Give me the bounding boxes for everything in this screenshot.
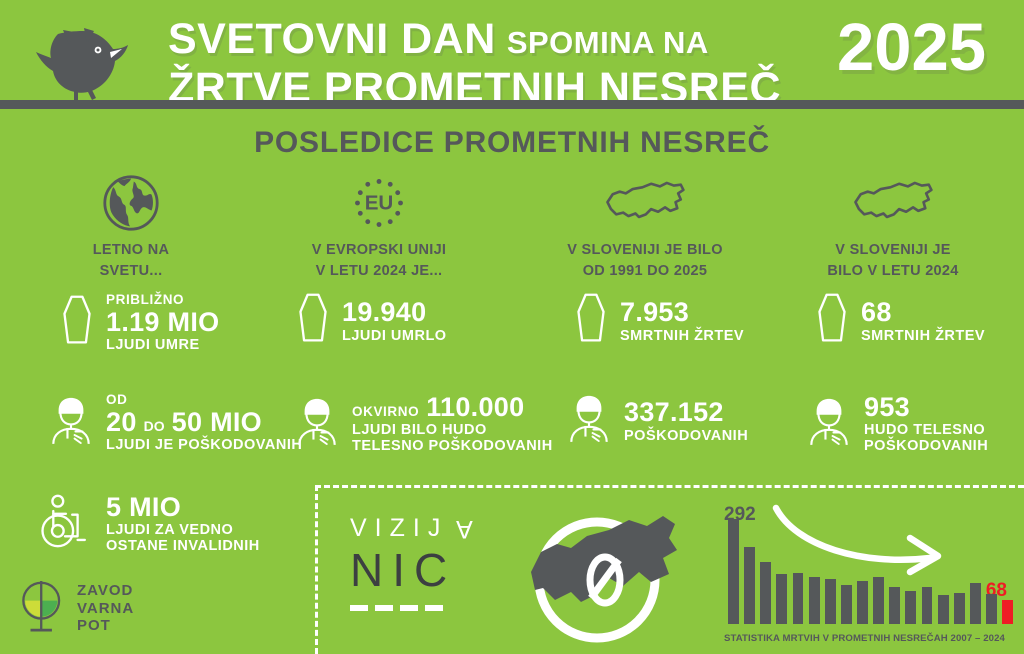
stat-pre: PRIBLIŽNO [106, 292, 219, 307]
column-header-slovenia-1991: V SLOVENIJI JE BILO OD 1991 DO 2025 [520, 172, 770, 281]
stat-value-b: 50 MIO [172, 407, 262, 437]
chart-bar [857, 581, 868, 624]
header-divider [0, 100, 1024, 109]
chart-bar [873, 577, 884, 624]
chart-caption: STATISTIKA MRTVIH V PROMETNIH NESREČAH 2… [724, 633, 1016, 644]
column-label-2: V SLOVENIJI JE BILO OD 1991 DO 2025 [520, 240, 770, 281]
deaths-row: PRIBLIŽNO 1.19 MIO LJUDI UMRE 19.940 LJU… [0, 292, 1024, 358]
chart-bar [1002, 600, 1013, 624]
chart-bar [841, 585, 852, 624]
injured-person-icon [566, 392, 612, 449]
slovenia-map-icon [768, 172, 1018, 234]
column-label-0: LETNO NA SVETU... [6, 240, 256, 281]
logo-mark-icon [18, 578, 68, 639]
column-header-eu: EU V EVROPSKI UNIJI V LETU 2024 JE... [254, 172, 504, 281]
stat-post: LJUDI JE POŠKODOVANIH [106, 437, 302, 453]
column-headers: LETNO NA SVETU... EU V EVROPSKI UNIJI V … [0, 172, 1024, 280]
stat-value: 5 MIO [106, 492, 260, 522]
year-label: 2025 [837, 14, 986, 81]
vizija-word-bottom: NIC [350, 547, 510, 593]
stat-injured-world: OD 20 DO 50 MIO LJUDI JE POŠKODOVANIH [48, 392, 302, 454]
coffin-icon [296, 292, 330, 349]
infographic-page: SVETOVNI DAN SPOMINA NA ŽRTVE PROMETNIH … [0, 0, 1024, 654]
bird-icon [22, 18, 152, 110]
coffin-icon [815, 292, 849, 349]
chart-bar [760, 562, 771, 624]
stat-post: POŠKODOVANIH [624, 428, 748, 444]
stat-value-a: 337.152 [624, 397, 748, 427]
stat-post: LJUDI BILO HUDO TELESNO POŠKODOVANIH [352, 422, 553, 454]
stat-post: SMRTNIH ŽRTEV [620, 328, 744, 344]
stat-pre: OKVIRNO [352, 404, 419, 419]
header: SVETOVNI DAN SPOMINA NA ŽRTVE PROMETNIH … [0, 0, 1024, 112]
vizija-flipped-a: A [448, 516, 473, 541]
chart-bar [728, 519, 739, 624]
chart-bar [922, 587, 933, 624]
chart-bar [825, 579, 836, 624]
chart-bar [986, 594, 997, 624]
globe-icon [6, 172, 256, 234]
stat-value-a: 20 [106, 407, 137, 437]
stat-deaths-world: PRIBLIŽNO 1.19 MIO LJUDI UMRE [60, 292, 219, 354]
chart-bar [905, 591, 916, 624]
stat-injured-slovenia-2024: 953 HUDO TELESNO POŠKODOVANIH [806, 392, 988, 455]
injured-person-icon [294, 395, 340, 452]
wheelchair-icon [38, 493, 92, 554]
chart-bar [809, 577, 820, 624]
chart-bar [889, 587, 900, 624]
chart-bar [793, 573, 804, 624]
injured-person-icon [48, 394, 94, 451]
deaths-bar-chart: 292 68 STATISTIKA MRTVIH V PROMETNIH NES… [718, 496, 1018, 651]
eu-stars-icon: EU [254, 172, 504, 234]
stat-post: SMRTNIH ŽRTEV [861, 328, 985, 344]
zavod-varna-pot-logo: ZAVOD VARNA POT [18, 578, 134, 639]
chart-bar [970, 583, 981, 624]
stat-post: LJUDI UMRE [106, 337, 219, 353]
stat-injured-slovenia-total: 337.152 POŠKODOVANIH [566, 392, 748, 449]
stat-deaths-slovenia-total: 7.953 SMRTNIH ŽRTEV [574, 292, 744, 349]
title-line1-big: SVETOVNI DAN [168, 15, 496, 63]
chart-bars [728, 516, 1013, 624]
stat-deaths-eu: 19.940 LJUDI UMRLO [296, 292, 447, 349]
stat-pre: OD [106, 392, 302, 407]
column-header-world: LETNO NA SVETU... [6, 172, 256, 281]
vizija-dashes [350, 605, 510, 611]
injured-row: OD 20 DO 50 MIO LJUDI JE POŠKODOVANIH [0, 392, 1024, 464]
injured-person-icon [806, 395, 852, 452]
stat-value: 7.953 [620, 297, 744, 327]
coffin-icon [60, 294, 94, 351]
stat-value-a: 953 [864, 392, 988, 422]
stat-value: 19.940 [342, 297, 447, 327]
svg-text:EU: EU [365, 192, 394, 215]
vizija-word-top: VIZIJ [350, 516, 448, 541]
stat-deaths-slovenia-2024: 68 SMRTNIH ŽRTEV [815, 292, 985, 349]
chart-bar [938, 595, 949, 624]
stat-permanently-disabled: 5 MIO LJUDI ZA VEDNO OSTANE INVALIDNIH [38, 492, 260, 555]
page-subtitle: POSLEDICE PROMETNIH NESREČ [0, 126, 1024, 160]
stat-post: LJUDI ZA VEDNO OSTANE INVALIDNIH [106, 522, 260, 554]
chart-bar [776, 574, 787, 624]
stat-post: HUDO TELESNO POŠKODOVANIH [864, 422, 988, 454]
vizija-wordmark: VIZIJA NIC [350, 516, 510, 611]
slovenia-zero-target-icon [513, 502, 693, 652]
chart-bar [744, 547, 755, 624]
stat-post: LJUDI UMRLO [342, 328, 447, 344]
slovenia-map-icon [520, 172, 770, 234]
column-label-3: V SLOVENIJI JE BILO V LETU 2024 [768, 240, 1018, 281]
column-header-slovenia-2024: V SLOVENIJI JE BILO V LETU 2024 [768, 172, 1018, 281]
title-line1-small: SPOMINA NA [507, 25, 709, 60]
coffin-icon [574, 292, 608, 349]
stat-value-a: 110.000 [426, 392, 524, 422]
stat-value: 1.19 MIO [106, 307, 219, 337]
stat-injured-eu: OKVIRNO 110.000 LJUDI BILO HUDO TELESNO … [294, 392, 553, 455]
chart-bar [954, 593, 965, 624]
vision-zero-panel: VIZIJA NIC 292 68 [315, 485, 1024, 654]
column-label-1: V EVROPSKI UNIJI V LETU 2024 JE... [254, 240, 504, 281]
stat-value: 68 [861, 297, 985, 327]
logo-text: ZAVOD VARNA POT [77, 582, 134, 635]
stat-mid: DO [144, 419, 165, 435]
